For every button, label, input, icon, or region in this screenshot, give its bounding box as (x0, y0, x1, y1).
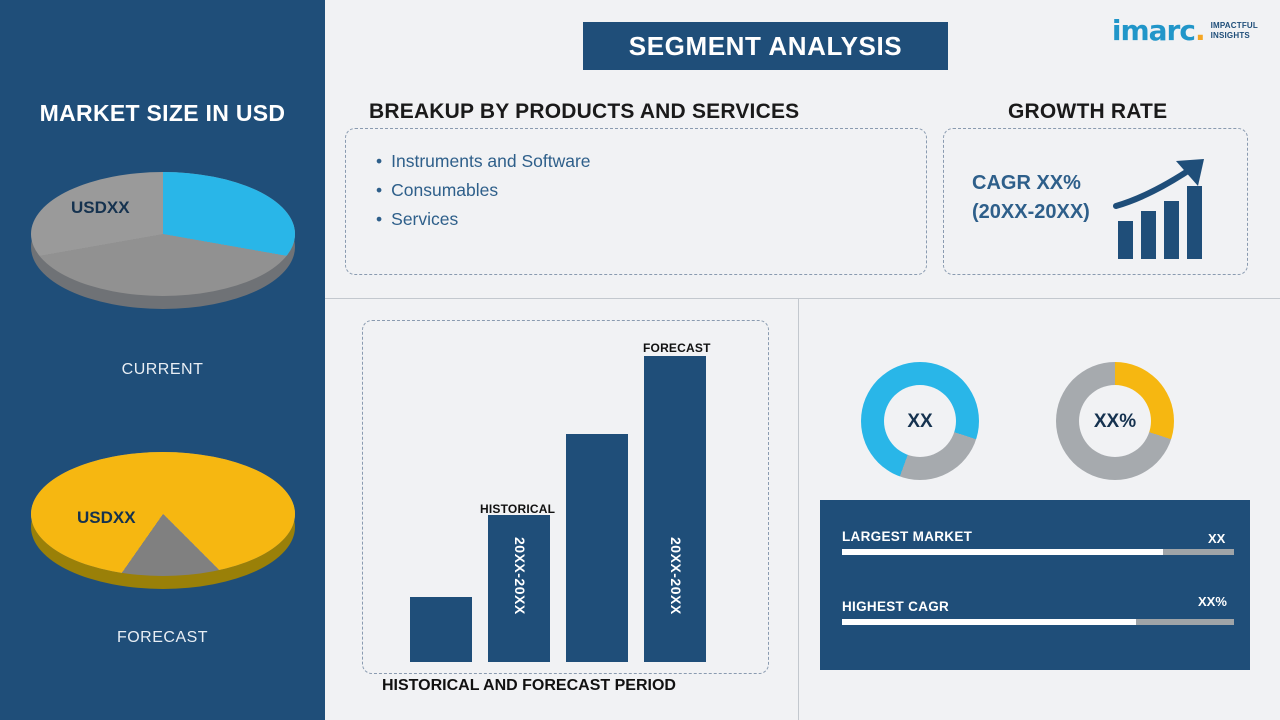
stat-label-highest-cagr: HIGHEST CAGR (842, 599, 949, 614)
segment-analysis-title: SEGMENT ANALYSIS (629, 31, 903, 62)
stats-card: LARGEST MARKET XX HIGHEST CAGR XX% (820, 500, 1250, 670)
stat-fill-highest-cagr (842, 619, 1136, 625)
logo-wordmark: imarc. (1112, 14, 1205, 47)
cagr-line1: CAGR XX% (972, 169, 1090, 198)
bar-4-label: 20XX-20XX (668, 537, 684, 615)
bar-chart-footer: HISTORICAL AND FORECAST PERIOD (382, 677, 676, 695)
forecast-tag: FORECAST (643, 341, 711, 355)
current-pie-value: USDXX (71, 198, 130, 218)
cagr-text: CAGR XX% (20XX-20XX) (972, 169, 1090, 227)
segment-analysis-badge: SEGMENT ANALYSIS (583, 22, 948, 70)
breakup-box: Instruments and Software Consumables Ser… (345, 128, 927, 275)
historical-tag: HISTORICAL (480, 502, 555, 516)
breakup-section-title: BREAKUP BY PRODUCTS AND SERVICES (369, 100, 799, 124)
forecast-pie-label: FORECAST (0, 629, 325, 647)
logo-tagline-line2: INSIGHTS (1211, 31, 1258, 41)
forecast-pie-value: USDXX (77, 508, 136, 528)
donut-right-value: XX% (1079, 411, 1151, 433)
bar-4: 20XX-20XX (644, 356, 706, 662)
logo-tagline: IMPACTFUL INSIGHTS (1211, 21, 1258, 41)
left-panel-title: MARKET SIZE IN USD (0, 100, 325, 127)
stat-label-largest-market: LARGEST MARKET (842, 529, 972, 544)
bar-2-label: 20XX-20XX (512, 537, 528, 615)
imarc-logo: imarc. IMPACTFUL INSIGHTS (1112, 14, 1258, 47)
left-panel: MARKET SIZE IN USD USDXX CURRENT USDXX F… (0, 0, 325, 720)
list-item: Consumables (376, 176, 591, 205)
list-item: Instruments and Software (376, 147, 591, 176)
donut-left-value: XX (884, 411, 956, 433)
growth-section-title: GROWTH RATE (1008, 100, 1167, 124)
bar-1 (410, 597, 472, 662)
cagr-line2: (20XX-20XX) (972, 198, 1090, 227)
bar-3 (566, 434, 628, 662)
current-pie-label: CURRENT (0, 361, 325, 379)
growth-box: CAGR XX% (20XX-20XX) (943, 128, 1248, 275)
stat-value-highest-cagr: XX% (1198, 594, 1227, 609)
divider-horizontal (325, 298, 1280, 299)
breakup-list: Instruments and Software Consumables Ser… (376, 147, 591, 234)
list-item: Services (376, 205, 591, 234)
logo-tagline-line1: IMPACTFUL (1211, 21, 1258, 31)
stat-value-largest-market: XX (1208, 531, 1225, 546)
stat-fill-largest-market (842, 549, 1163, 555)
infographic-page: MARKET SIZE IN USD USDXX CURRENT USDXX F… (0, 0, 1280, 720)
bar-2: 20XX-20XX (488, 515, 550, 662)
right-content: SEGMENT ANALYSIS imarc. IMPACTFUL INSIGH… (325, 0, 1280, 720)
divider-vertical (798, 298, 799, 720)
